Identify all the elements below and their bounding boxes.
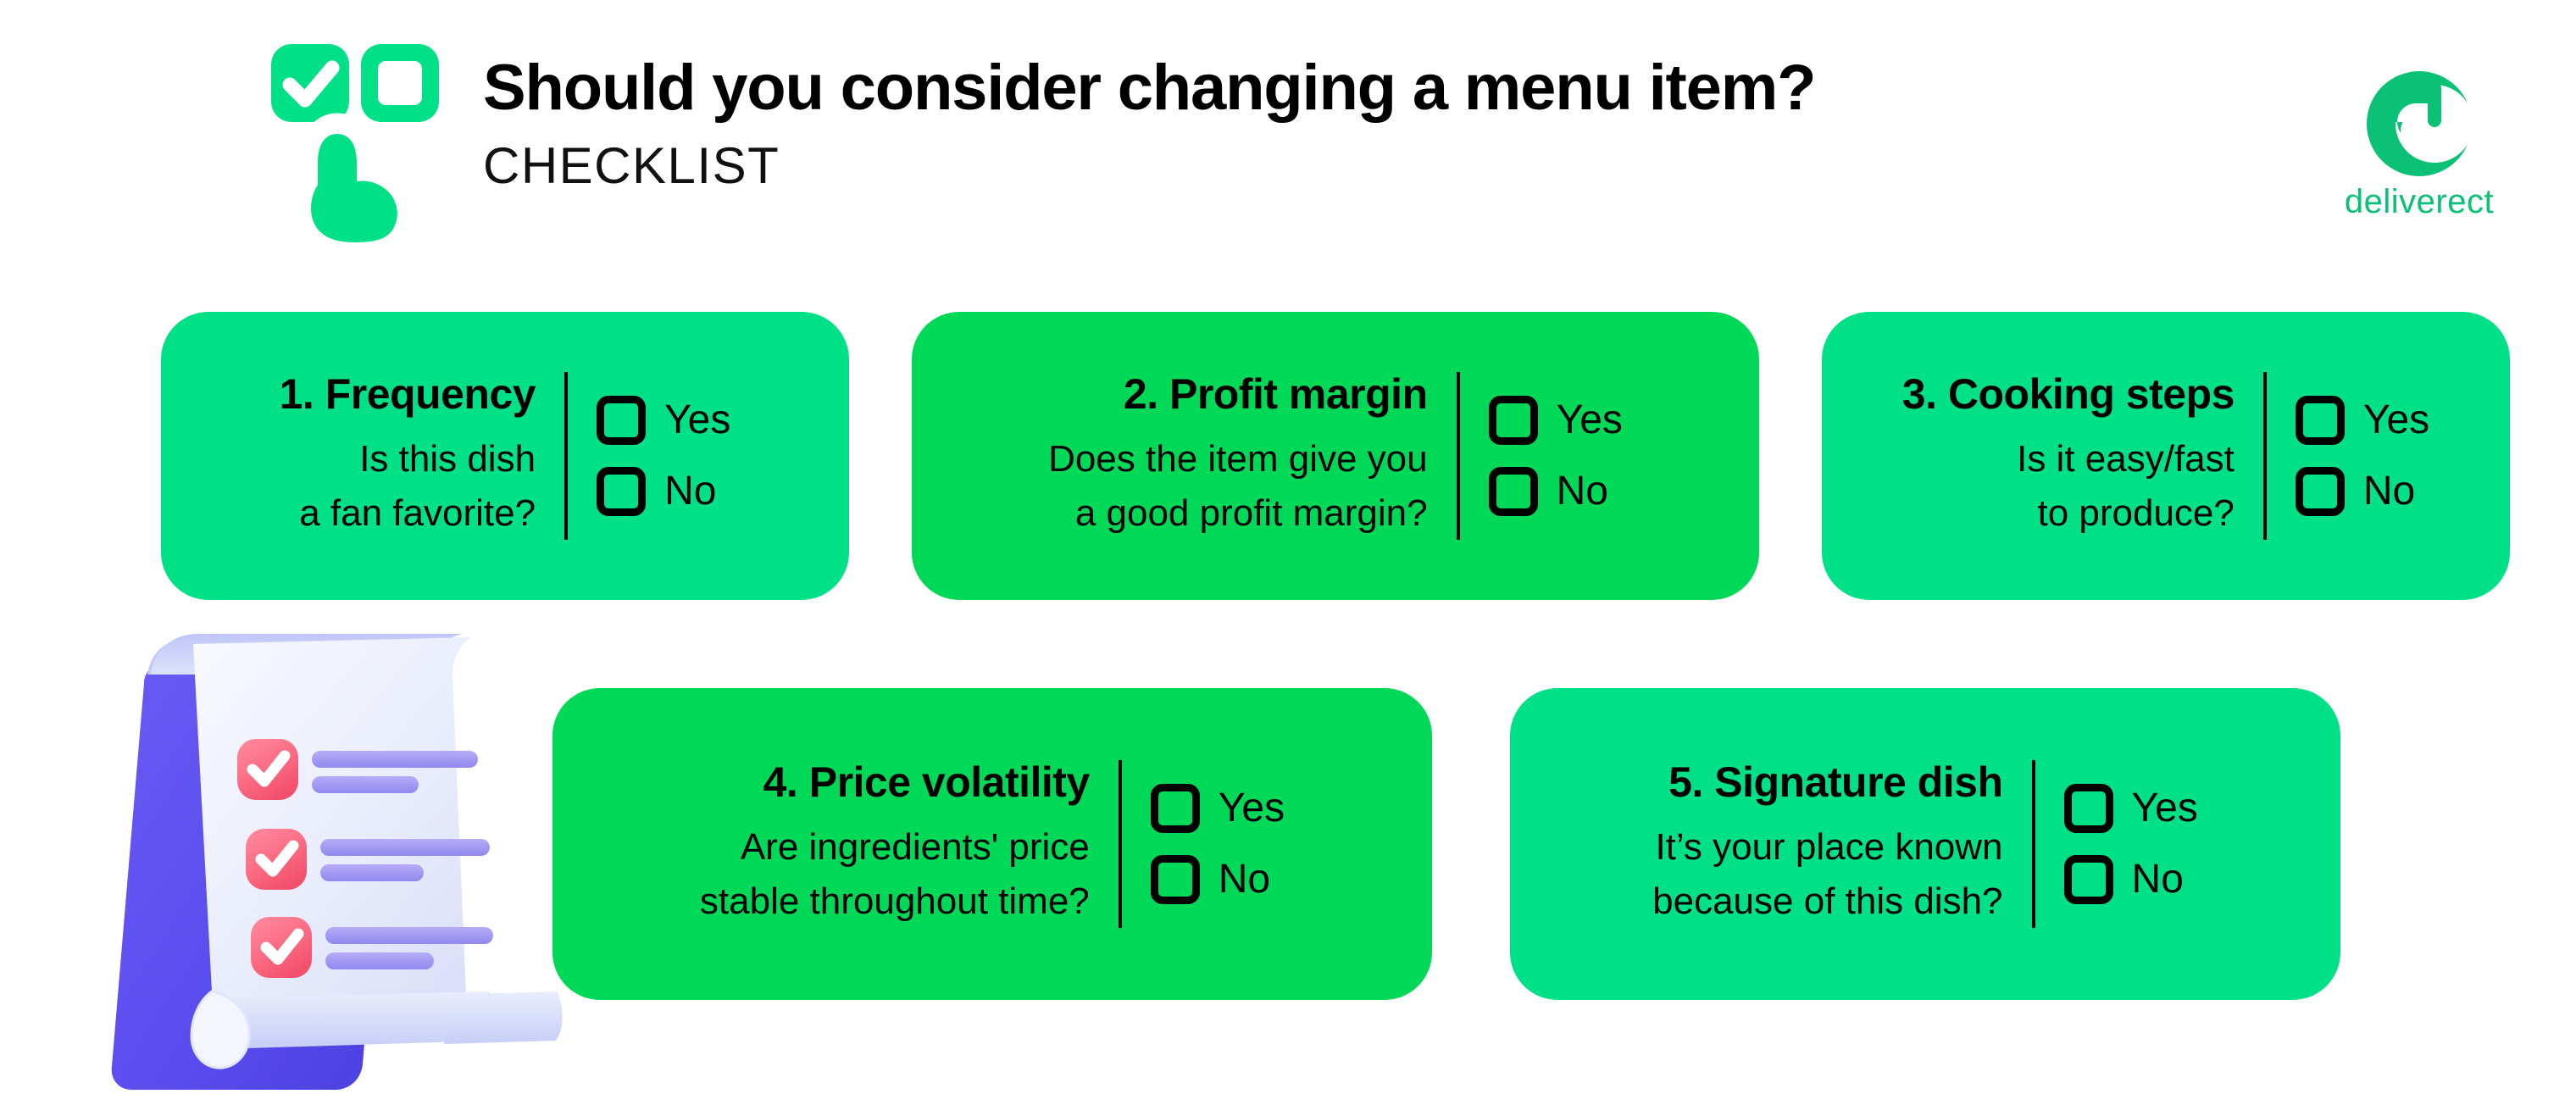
card-question-line-2: stable throughout time?: [700, 876, 1090, 928]
checklist-card-frequency[interactable]: 1. Frequency Is this dish a fan favorite…: [161, 312, 849, 600]
header: Should you consider changing a menu item…: [0, 0, 2576, 280]
card-text: 5. Signature dish It’s your place known …: [1652, 760, 2031, 928]
card-options: Yes No: [2267, 396, 2429, 516]
option-label-no: No: [1219, 859, 1270, 900]
brand-logo: deliverect: [2322, 69, 2517, 239]
option-row-no[interactable]: No: [2296, 467, 2429, 516]
title-block: Should you consider changing a menu item…: [483, 56, 1815, 192]
card-question-line-1: Does the item give you: [1048, 434, 1428, 486]
card-question-line-2: a good profit margin?: [1048, 488, 1428, 540]
checklist-card-price-volatility[interactable]: 4. Price volatility Are ingredients' pri…: [552, 688, 1432, 1000]
checkbox-yes-icon[interactable]: [1489, 396, 1538, 445]
checkbox-no-icon[interactable]: [1489, 467, 1538, 516]
brand-name: deliverect: [2322, 183, 2517, 221]
card-question-line-2: to produce?: [1902, 488, 2235, 540]
card-heading: 4. Price volatility: [700, 760, 1090, 805]
card-question-line-1: It’s your place known: [1652, 822, 2002, 874]
card-options: Yes No: [568, 396, 730, 516]
option-label-no: No: [1557, 471, 1608, 512]
option-row-yes[interactable]: Yes: [1489, 396, 1623, 445]
card-heading: 1. Frequency: [280, 372, 536, 417]
infographic-page: Should you consider changing a menu item…: [0, 0, 2576, 1105]
card-options: Yes No: [2035, 784, 2198, 904]
option-row-yes[interactable]: Yes: [1151, 784, 1285, 833]
card-question-line-2: a fan favorite?: [280, 488, 536, 540]
card-question-line-1: Are ingredients' price: [700, 822, 1090, 874]
option-row-no[interactable]: No: [597, 467, 730, 516]
card-question-line-1: Is it easy/fast: [1902, 434, 2235, 486]
deliverect-d-mark-icon: [2365, 69, 2473, 178]
card-options: Yes No: [1122, 784, 1285, 904]
checkbox-yes-icon[interactable]: [597, 396, 646, 445]
checkbox-no-icon[interactable]: [2296, 467, 2345, 516]
option-row-no[interactable]: No: [1151, 855, 1285, 904]
card-text: 2. Profit margin Does the item give you …: [1048, 372, 1457, 540]
card-options: Yes No: [1460, 396, 1623, 516]
checkbox-yes-icon[interactable]: [2064, 784, 2113, 833]
checkbox-no-icon[interactable]: [2064, 855, 2113, 904]
checkbox-yes-icon[interactable]: [1151, 784, 1200, 833]
card-text: 1. Frequency Is this dish a fan favorite…: [280, 372, 564, 540]
option-row-no[interactable]: No: [2064, 855, 2198, 904]
card-question-line-2: because of this dish?: [1652, 876, 2002, 928]
checklist-card-profit-margin[interactable]: 2. Profit margin Does the item give you …: [912, 312, 1759, 600]
clipboard-checklist-illustration: [93, 593, 585, 1102]
option-label-no: No: [2132, 859, 2184, 900]
option-label-no: No: [2363, 471, 2415, 512]
checklist-hand-icon: [269, 39, 439, 242]
option-row-no[interactable]: No: [1489, 467, 1623, 516]
option-row-yes[interactable]: Yes: [2064, 784, 2198, 833]
option-label-yes: Yes: [2363, 400, 2429, 441]
checklist-card-cooking-steps[interactable]: 3. Cooking steps Is it easy/fast to prod…: [1822, 312, 2510, 600]
card-question-line-1: Is this dish: [280, 434, 536, 486]
checklist-card-signature-dish[interactable]: 5. Signature dish It’s your place known …: [1510, 688, 2340, 1000]
card-heading: 2. Profit margin: [1048, 372, 1428, 417]
option-label-yes: Yes: [664, 400, 730, 441]
checkbox-yes-icon[interactable]: [2296, 396, 2345, 445]
page-subtitle: CHECKLIST: [483, 141, 1815, 192]
card-text: 3. Cooking steps Is it easy/fast to prod…: [1902, 372, 2263, 540]
card-heading: 5. Signature dish: [1652, 760, 2002, 805]
checkbox-no-icon[interactable]: [1151, 855, 1200, 904]
option-label-no: No: [664, 471, 716, 512]
checkbox-no-icon[interactable]: [597, 467, 646, 516]
option-label-yes: Yes: [1219, 788, 1285, 829]
option-row-yes[interactable]: Yes: [2296, 396, 2429, 445]
card-heading: 3. Cooking steps: [1902, 372, 2235, 417]
card-text: 4. Price volatility Are ingredients' pri…: [700, 760, 1119, 928]
option-row-yes[interactable]: Yes: [597, 396, 730, 445]
option-label-yes: Yes: [1557, 400, 1623, 441]
option-label-yes: Yes: [2132, 788, 2198, 829]
page-title: Should you consider changing a menu item…: [483, 56, 1815, 120]
